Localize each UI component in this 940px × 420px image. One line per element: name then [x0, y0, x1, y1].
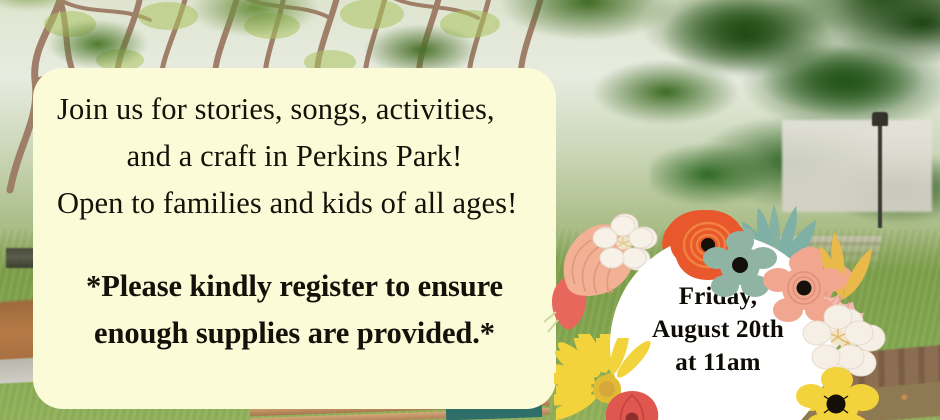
card-line-2: and a craft in Perkins Park! — [49, 133, 540, 180]
lamp-post — [878, 120, 882, 228]
card-line-1: Join us for stories, songs, activities, — [49, 86, 540, 133]
card-emphasis-line-1: *Please kindly register to ensure — [49, 263, 540, 310]
date-badge: Friday, August 20th at 11am — [548, 216, 888, 420]
card-emphasis-line-2: enough supplies are provided.* — [49, 310, 540, 357]
cream-blossom-flower-front-icon — [802, 304, 874, 374]
yellow-anemone-flower-front-icon — [794, 366, 878, 420]
lamp-head-icon — [872, 112, 888, 126]
card-spacer — [49, 227, 540, 263]
card-line-3: Open to families and kids of all ages! — [49, 180, 540, 227]
event-flyer-poster: Join us for stories, songs, activities, … — [0, 0, 940, 420]
white-blossom-flower-front-icon — [592, 214, 654, 272]
message-card: Join us for stories, songs, activities, … — [33, 68, 556, 409]
message-card-content: Join us for stories, songs, activities, … — [49, 86, 540, 357]
red-poppy-flower-front-icon — [598, 386, 666, 420]
